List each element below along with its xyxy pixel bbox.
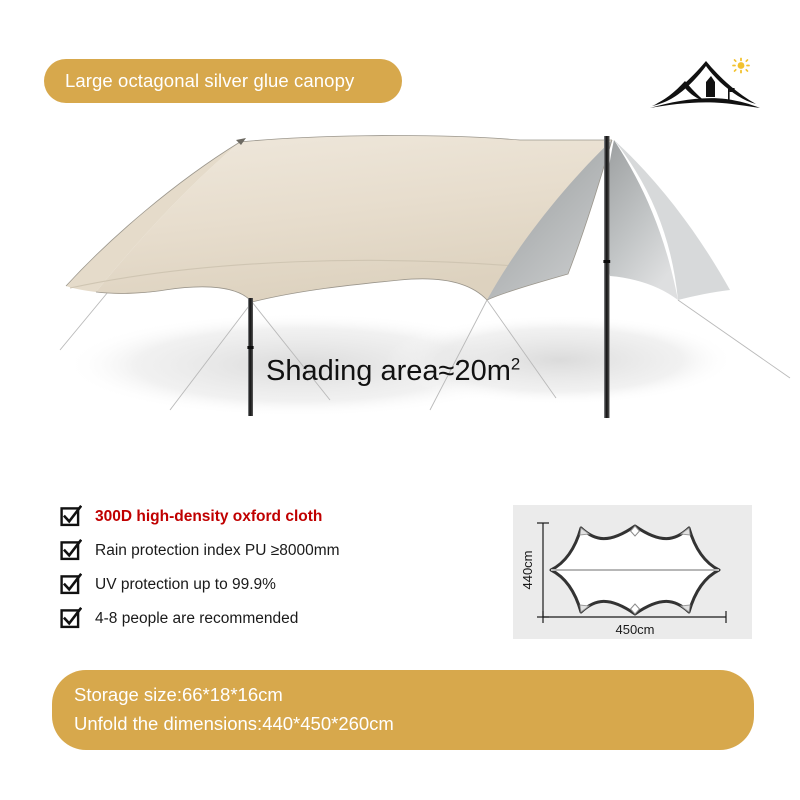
checkbox-checked-icon [60, 539, 82, 561]
mountain-tent-sun-logo [648, 52, 764, 114]
shading-area-unit-exponent: 2 [511, 354, 520, 373]
shading-area-text: Shading area≈20m [266, 355, 511, 387]
title-banner: Large octagonal silver glue canopy [44, 59, 402, 103]
checkbox-checked-icon [60, 607, 82, 629]
height-dimension-label: 440cm [520, 550, 535, 589]
feature-label: Rain protection index PU ≥8000mm [95, 542, 340, 560]
storage-size-text: Storage size:66*18*16cm [52, 681, 754, 710]
pole-center-highlight [604, 136, 605, 418]
flag-pole [728, 88, 730, 102]
sun-icon [732, 58, 750, 74]
checkbox-checked-icon [60, 573, 82, 595]
pole-left-highlight [248, 298, 249, 416]
tent-shape [706, 82, 715, 97]
feature-list: 300D high-density oxford cloth Rain prot… [60, 500, 410, 636]
page-title: Large octagonal silver glue canopy [44, 70, 354, 92]
feature-item-uv: UV protection up to 99.9% [60, 568, 410, 602]
canopy-hero-illustration [0, 110, 800, 460]
feature-label: 300D high-density oxford cloth [95, 508, 322, 526]
height-dimension-line [537, 523, 549, 617]
checkbox-checked-icon [60, 505, 82, 527]
feature-item-fabric: 300D high-density oxford cloth [60, 500, 410, 534]
dimension-diagram-panel: 440cm 450cm [513, 505, 752, 639]
feature-item-capacity: 4-8 people are recommended [60, 602, 410, 636]
feature-label: 4-8 people are recommended [95, 610, 298, 628]
pole-right-joint [603, 260, 610, 263]
flag [730, 88, 735, 92]
pole-left-joint [247, 346, 253, 349]
tent-roof [706, 76, 715, 82]
feature-item-rain: Rain protection index PU ≥8000mm [60, 534, 410, 568]
shading-area-caption: Shading area≈20m2 [266, 357, 520, 386]
specs-banner: Storage size:66*18*16cm Unfold the dimen… [52, 670, 754, 750]
unfold-dimensions-text: Unfold the dimensions:440*450*260cm [52, 710, 754, 739]
feature-label: UV protection up to 99.9% [95, 576, 276, 594]
width-dimension-label: 450cm [615, 622, 654, 637]
